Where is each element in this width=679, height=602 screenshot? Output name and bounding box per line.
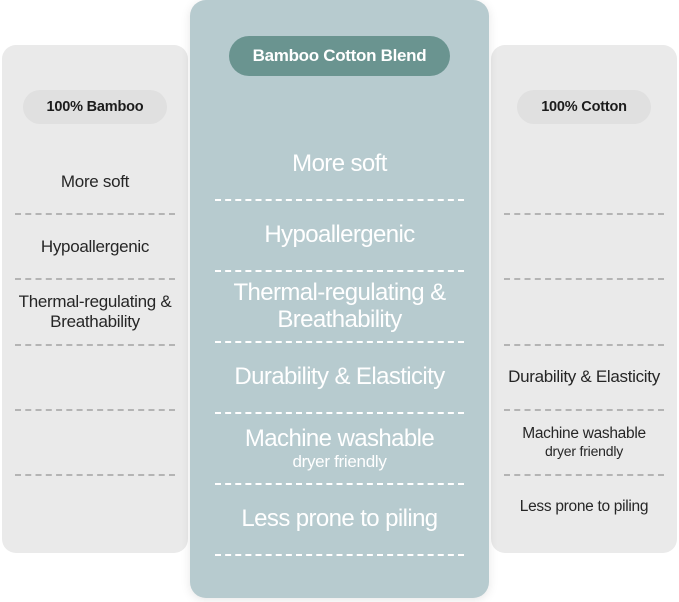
feature-row-empty bbox=[504, 150, 664, 215]
panel-cotton-badge-wrap: 100% Cotton bbox=[491, 90, 677, 124]
feature-label: Thermal-regulating & Breathability bbox=[215, 280, 464, 334]
feature-row: Thermal-regulating & Breathability bbox=[15, 280, 175, 345]
feature-label: Less prone to piling bbox=[241, 506, 437, 533]
panel-bamboo-badge-wrap: 100% Bamboo bbox=[2, 90, 188, 124]
feature-label-sub: dryer friendly bbox=[245, 452, 434, 471]
comparison-chart: 100% Bamboo More soft Hypoallergenic The… bbox=[0, 0, 679, 602]
panel-blend-rows: More soft Hypoallergenic Thermal-regulat… bbox=[215, 130, 464, 556]
panel-bamboo: 100% Bamboo More soft Hypoallergenic The… bbox=[2, 45, 188, 553]
feature-row-empty bbox=[504, 215, 664, 280]
feature-row-empty bbox=[15, 346, 175, 411]
feature-row: Hypoallergenic bbox=[215, 201, 464, 272]
feature-label: Machine washable dryer friendly bbox=[245, 426, 434, 471]
feature-row: Machine washable dryer friendly bbox=[504, 411, 664, 476]
feature-row-empty bbox=[15, 476, 175, 539]
feature-row: Less prone to piling bbox=[504, 476, 664, 539]
panel-cotton-badge: 100% Cotton bbox=[517, 90, 651, 124]
feature-row: Machine washable dryer friendly bbox=[215, 414, 464, 485]
panel-bamboo-badge: 100% Bamboo bbox=[23, 90, 168, 124]
feature-row-empty bbox=[504, 280, 664, 345]
feature-row: Thermal-regulating & Breathability bbox=[215, 272, 464, 343]
feature-label: Durability & Elasticity bbox=[508, 367, 660, 387]
feature-label: Durability & Elasticity bbox=[234, 364, 444, 391]
panel-bamboo-rows: More soft Hypoallergenic Thermal-regulat… bbox=[15, 150, 175, 539]
panel-cotton: 100% Cotton Durability & Elasticity Mach… bbox=[491, 45, 677, 553]
feature-label: Thermal-regulating & Breathability bbox=[17, 292, 173, 332]
feature-row: Durability & Elasticity bbox=[504, 346, 664, 411]
feature-label: Hypoallergenic bbox=[41, 237, 149, 257]
feature-label: Less prone to piling bbox=[520, 498, 648, 516]
panel-blend-badge-wrap: Bamboo Cotton Blend bbox=[190, 36, 489, 76]
feature-row: More soft bbox=[15, 150, 175, 215]
feature-row-empty bbox=[15, 411, 175, 476]
feature-label: More soft bbox=[61, 172, 129, 192]
feature-row: Durability & Elasticity bbox=[215, 343, 464, 414]
feature-label-sub: dryer friendly bbox=[522, 443, 646, 460]
panel-blend-badge: Bamboo Cotton Blend bbox=[229, 36, 451, 76]
feature-row: Hypoallergenic bbox=[15, 215, 175, 280]
feature-label-main: Machine washable bbox=[522, 425, 646, 442]
panel-cotton-rows: Durability & Elasticity Machine washable… bbox=[504, 150, 664, 539]
feature-label: Hypoallergenic bbox=[264, 222, 414, 249]
feature-label: More soft bbox=[292, 151, 387, 178]
panel-bamboo-cotton-blend: Bamboo Cotton Blend More soft Hypoallerg… bbox=[190, 0, 489, 598]
feature-row: Less prone to piling bbox=[215, 485, 464, 556]
feature-row: More soft bbox=[215, 130, 464, 201]
feature-label: Machine washable dryer friendly bbox=[522, 425, 646, 460]
feature-label-main: Machine washable bbox=[245, 425, 434, 452]
